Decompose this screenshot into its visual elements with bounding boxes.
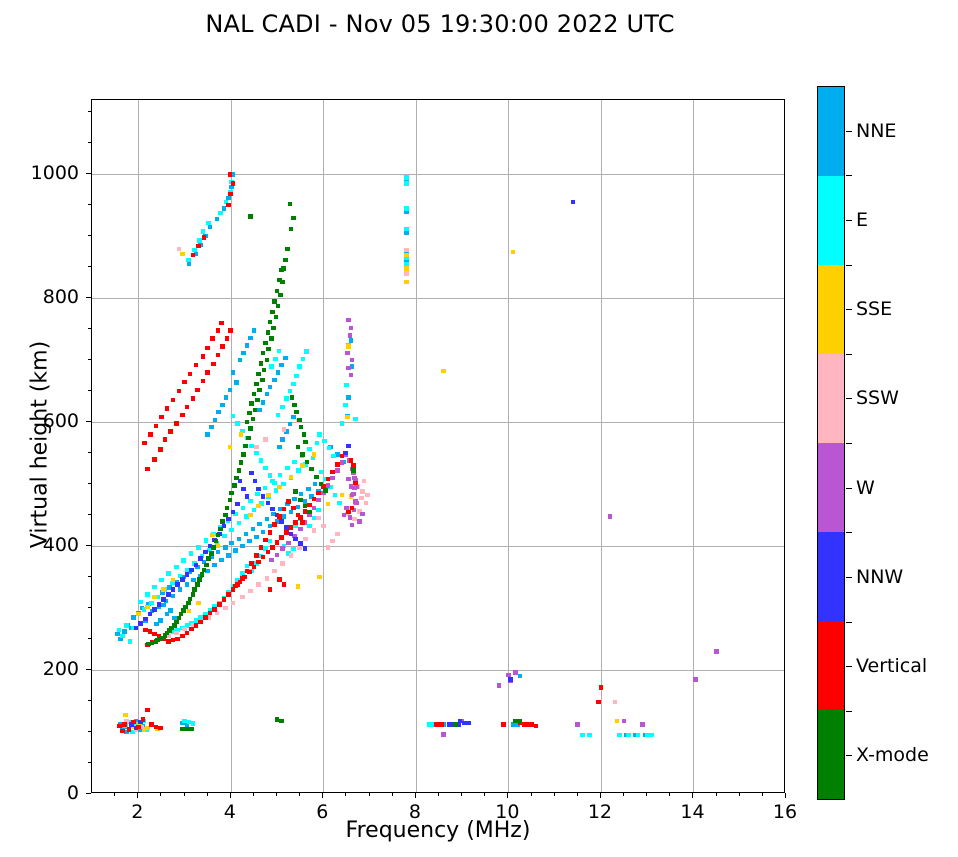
axis-tick [114,793,115,796]
axis-tick [692,793,693,798]
axis-tick [531,793,532,796]
axis-tick [762,793,763,796]
axis-tick [88,266,91,267]
axis-ticks-layer: 24681012141602004006008001000 [91,99,785,793]
axis-tick [160,793,161,796]
colorbar-segment-w[interactable] [818,443,844,532]
colorbar-label-x-mode: X-mode [856,744,929,766]
axis-tick [299,793,300,796]
colorbar-boundary-tick [846,175,852,176]
axis-tick [86,173,91,174]
colorbar-tick [846,666,852,667]
axis-tick [88,452,91,453]
colorbar-boundary-tick [846,443,852,444]
colorbar-tick [846,755,852,756]
axis-tick [86,545,91,546]
axis-tick [86,669,91,670]
colorbar-segment-e[interactable] [818,176,844,265]
colorbar-segment-vertical[interactable] [818,621,844,710]
axis-tick [137,793,138,798]
colorbar-label-vertical: Vertical [856,655,927,677]
axis-tick [88,607,91,608]
axis-tick [369,793,370,796]
x-axis-label: Frequency (MHz) [91,818,785,843]
colorbar-label-ssw: SSW [856,387,899,409]
axis-tick [554,793,555,796]
colorbar-boundary-tick [846,354,852,355]
colorbar-segment-x-mode[interactable] [818,710,844,799]
axis-tick [785,793,786,798]
colorbar-boundary-tick [846,711,852,712]
axis-tick [230,793,231,798]
axis-tick [88,576,91,577]
axis-tick [484,793,485,796]
axis-tick [88,483,91,484]
axis-tick [207,793,208,796]
y-tick-label: 0 [67,782,79,804]
colorbar-label-e: E [856,209,868,231]
axis-tick [600,793,601,798]
axis-tick [88,638,91,639]
colorbar-segment-nne[interactable] [818,87,844,176]
colorbar-boundary-tick [846,265,852,266]
axis-tick [86,421,91,422]
axis-tick [739,793,740,796]
colorbar-tick [846,220,852,221]
axis-tick [646,793,647,796]
axis-tick [322,793,323,798]
axis-tick [623,793,624,796]
chart-title: NAL CADI - Nov 05 19:30:00 2022 UTC [0,10,880,38]
colorbar-label-w: W [856,477,875,499]
axis-tick [88,328,91,329]
axis-tick [88,731,91,732]
axis-tick [716,793,717,796]
axis-tick [88,514,91,515]
colorbar-segment-nnw[interactable] [818,532,844,621]
colorbar-tick [846,398,852,399]
colorbar-label-sse: SSE [856,298,892,320]
axis-tick [86,793,91,794]
colorbar-boundary-tick [846,532,852,533]
axis-tick [88,700,91,701]
axis-tick [438,793,439,796]
axis-tick [88,762,91,763]
axis-tick [345,793,346,796]
axis-tick [669,793,670,796]
axis-tick [253,793,254,796]
colorbar[interactable] [817,86,845,800]
axis-tick [88,111,91,112]
colorbar-tick [846,488,852,489]
axis-tick [577,793,578,796]
y-tick-label: 1000 [31,162,79,184]
axis-tick [461,793,462,796]
y-axis-label: Virtual height (km) [28,295,53,595]
colorbar-label-nne: NNE [856,120,896,142]
axis-tick [507,793,508,798]
axis-tick [88,359,91,360]
colorbar-segment-ssw[interactable] [818,354,844,443]
axis-tick [88,204,91,205]
colorbar-label-nnw: NNW [856,566,903,588]
colorbar-boundary-tick [846,622,852,623]
colorbar-tick [846,577,852,578]
axis-tick [88,390,91,391]
colorbar-tick [846,309,852,310]
colorbar-segment-sse[interactable] [818,265,844,354]
ionogram-figure: NAL CADI - Nov 05 19:30:00 2022 UTC 2468… [0,0,958,857]
axis-tick [88,142,91,143]
colorbar-tick [846,131,852,132]
axis-tick [392,793,393,796]
axis-tick [86,297,91,298]
y-tick-label: 200 [43,658,79,680]
axis-tick [415,793,416,798]
axis-tick [276,793,277,796]
axis-tick [184,793,185,796]
axis-tick [88,235,91,236]
